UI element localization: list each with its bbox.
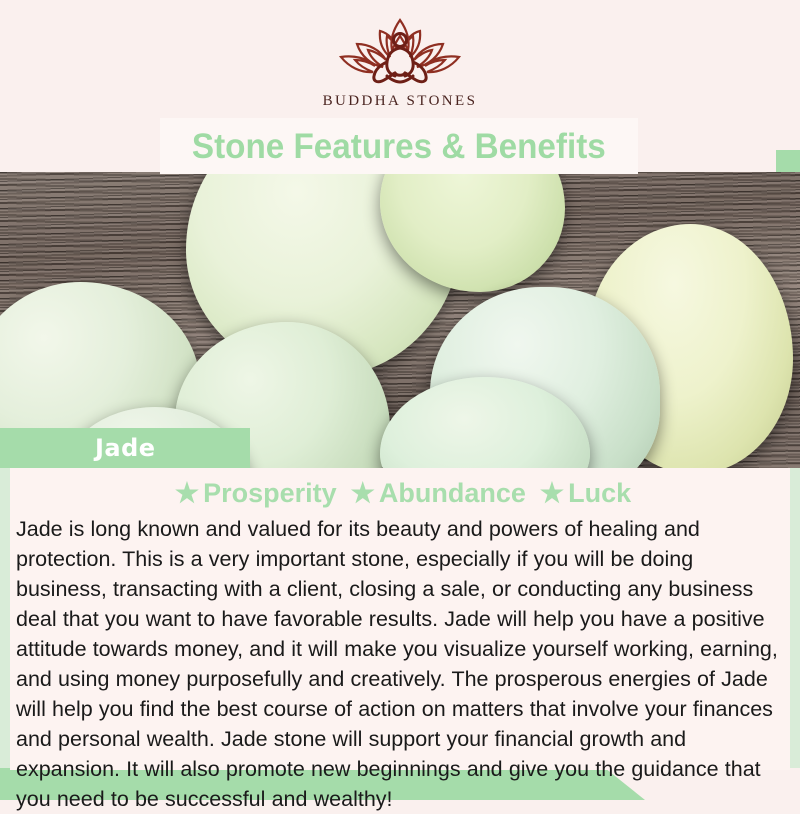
keyword-luck: Luck [568,478,631,508]
keyword-prosperity: Prosperity [203,478,337,508]
star-icon: ★ [540,478,564,508]
star-icon: ★ [351,478,375,508]
header: BUDDHA STONES [0,0,800,118]
brand-logo: BUDDHA STONES [0,14,800,110]
content-panel: ★Prosperity★Abundance★Luck Jade is long … [10,468,790,770]
page-title: Stone Features & Benefits [192,129,606,164]
keyword-list: ★Prosperity★Abundance★Luck [10,468,790,511]
brand-name: BUDDHA STONES [0,93,800,110]
stone-name-band: Jade [0,428,250,468]
section-title-banner: Stone Features & Benefits [160,118,638,174]
page-root: BUDDHA STONES Stone Features & Benefits … [0,0,800,800]
star-icon: ★ [175,478,199,508]
lotus-meditation-icon [325,14,475,92]
keyword-abundance: Abundance [379,478,526,508]
stone-photo [0,172,800,468]
stone-description: Jade is long known and valued for its be… [10,511,790,814]
stone-name: Jade [95,434,156,462]
decor-content-right-edge [790,468,800,768]
decor-content-left-edge [0,468,10,768]
